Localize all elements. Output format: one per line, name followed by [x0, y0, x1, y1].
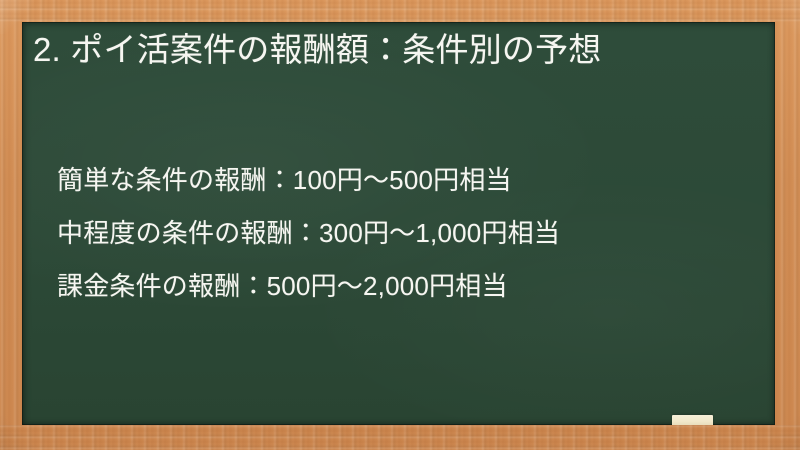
list-item: 簡単な条件の報酬：100円〜500円相当	[57, 153, 765, 206]
chalkboard-slide: 2. ポイ活案件の報酬額：条件別の予想 簡単な条件の報酬：100円〜500円相当…	[0, 0, 800, 450]
wood-frame-top-rail	[0, 0, 800, 22]
reward-tier-list: 簡単な条件の報酬：100円〜500円相当 中程度の条件の報酬：300円〜1,00…	[57, 153, 765, 312]
slide-content: 2. ポイ活案件の報酬額：条件別の予想	[33, 28, 753, 72]
chalk-stick-icon	[672, 415, 713, 425]
slide-title: 2. ポイ活案件の報酬額：条件別の予想	[33, 28, 753, 72]
chalkboard-surface: 2. ポイ活案件の報酬額：条件別の予想 簡単な条件の報酬：100円〜500円相当…	[22, 22, 775, 425]
wood-frame-bottom-rail	[0, 425, 800, 450]
list-item: 課金条件の報酬：500円〜2,000円相当	[57, 259, 765, 312]
list-item: 中程度の条件の報酬：300円〜1,000円相当	[57, 206, 765, 259]
